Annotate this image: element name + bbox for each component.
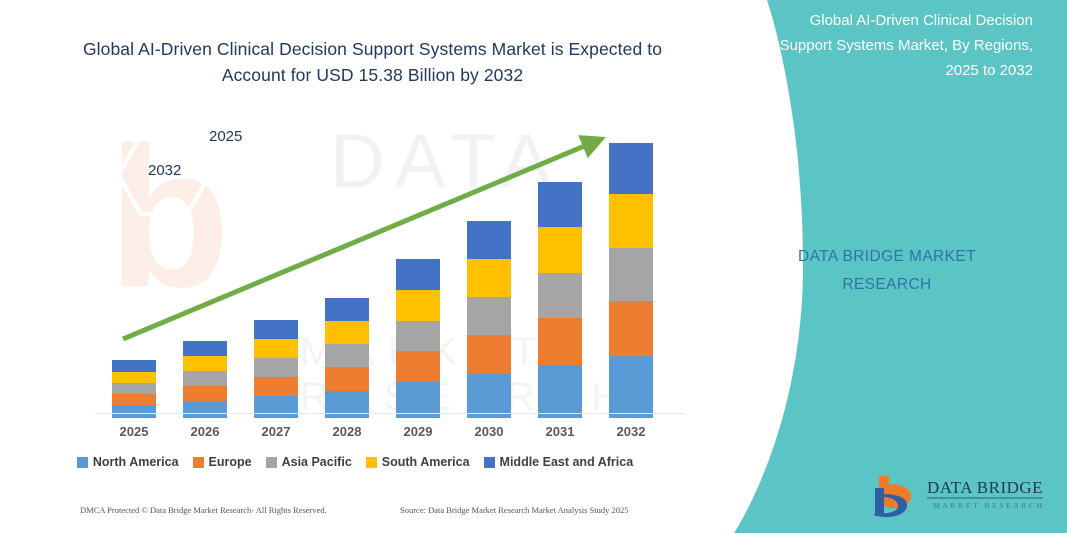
bar-segment[interactable]: [467, 259, 511, 297]
legend-item[interactable]: Middle East and Africa: [484, 455, 634, 469]
legend-item[interactable]: Europe: [193, 455, 252, 469]
bar-segment[interactable]: [538, 273, 582, 318]
x-axis-label: 2030: [454, 420, 524, 444]
bar-segment[interactable]: [609, 194, 653, 248]
hexagon-2025-label: 2025: [209, 128, 242, 145]
bar-segment[interactable]: [467, 374, 511, 418]
bar-2029[interactable]: [396, 5, 440, 418]
bar-segment[interactable]: [254, 377, 298, 396]
x-axis-label: 2028: [312, 420, 382, 444]
legend-label: North America: [93, 455, 179, 469]
data-bridge-logo: DATA BRIDGE MARKET RESEARCH: [865, 472, 1055, 520]
legend-label: Asia Pacific: [282, 455, 352, 469]
x-axis-label: 2027: [241, 420, 311, 444]
legend-label: Europe: [209, 455, 252, 469]
bar-segment[interactable]: [325, 367, 369, 391]
bar-segment[interactable]: [396, 321, 440, 351]
logo-mark-icon: DATA BRIDGE MARKET RESEARCH: [865, 472, 1055, 520]
legend-item[interactable]: North America: [77, 455, 179, 469]
x-axis-label: 2029: [383, 420, 453, 444]
infographic-root: b DATA MARKET RESEARCH Global AI-Driven …: [0, 0, 1067, 533]
legend-label: South America: [382, 455, 470, 469]
bar-segment[interactable]: [609, 356, 653, 418]
legend-swatch: [484, 457, 495, 468]
bar-2025[interactable]: [112, 5, 156, 418]
bar-segment[interactable]: [183, 341, 227, 356]
bar-segment[interactable]: [183, 356, 227, 371]
bar-2026[interactable]: [183, 5, 227, 418]
bar-chart: 20252026202720282029203020312032: [0, 0, 710, 470]
legend-item[interactable]: South America: [366, 455, 470, 469]
x-axis-labels: 20252026202720282029203020312032: [0, 420, 710, 444]
x-axis-label: 2025: [99, 420, 169, 444]
panel-brand-line2: RESEARCH: [707, 271, 1067, 299]
bar-segment[interactable]: [538, 365, 582, 418]
bar-segment[interactable]: [183, 386, 227, 401]
x-axis-label: 2032: [596, 420, 666, 444]
bar-segment[interactable]: [254, 320, 298, 339]
bar-segment[interactable]: [538, 227, 582, 273]
bar-segment[interactable]: [112, 405, 156, 418]
bar-segment[interactable]: [467, 297, 511, 335]
legend-swatch: [193, 457, 204, 468]
bar-segment[interactable]: [467, 335, 511, 374]
legend-item[interactable]: Asia Pacific: [266, 455, 352, 469]
bar-segment[interactable]: [254, 396, 298, 418]
bar-segment[interactable]: [467, 221, 511, 259]
bar-2027[interactable]: [254, 5, 298, 418]
bar-segment[interactable]: [609, 248, 653, 301]
chart-legend: North AmericaEuropeAsia PacificSouth Ame…: [0, 455, 710, 469]
legend-swatch: [366, 457, 377, 468]
footer-copyright: DMCA Protected © Data Bridge Market Rese…: [80, 505, 327, 515]
bar-segment[interactable]: [183, 401, 227, 418]
bar-segment[interactable]: [183, 371, 227, 386]
legend-swatch: [266, 457, 277, 468]
bar-segment[interactable]: [396, 290, 440, 321]
bar-segment[interactable]: [325, 321, 369, 344]
x-axis-label: 2031: [525, 420, 595, 444]
bar-segment[interactable]: [396, 259, 440, 290]
bar-segment[interactable]: [325, 344, 369, 367]
bar-segment[interactable]: [609, 301, 653, 356]
bar-2030[interactable]: [467, 5, 511, 418]
plot-area: [0, 0, 710, 418]
logo-title-text: DATA BRIDGE: [927, 478, 1043, 497]
bar-segment[interactable]: [254, 339, 298, 358]
bar-segment[interactable]: [538, 182, 582, 227]
panel-title: Global AI-Driven Clinical Decision Suppo…: [753, 8, 1033, 83]
bar-segment[interactable]: [112, 372, 156, 383]
bar-segment[interactable]: [609, 143, 653, 194]
bar-2031[interactable]: [538, 5, 582, 418]
hexagon-2032-label: 2032: [148, 162, 181, 179]
bar-2028[interactable]: [325, 5, 369, 418]
footer: DMCA Protected © Data Bridge Market Rese…: [0, 505, 710, 525]
bar-segment[interactable]: [325, 298, 369, 321]
panel-brand-line1: DATA BRIDGE MARKET: [707, 243, 1067, 271]
legend-swatch: [77, 457, 88, 468]
bar-segment[interactable]: [112, 394, 156, 405]
panel-brand-name: DATA BRIDGE MARKET RESEARCH: [707, 243, 1067, 299]
x-axis-label: 2026: [170, 420, 240, 444]
bar-segment[interactable]: [254, 358, 298, 377]
legend-label: Middle East and Africa: [500, 455, 634, 469]
bar-segment[interactable]: [538, 318, 582, 365]
bar-segment[interactable]: [112, 383, 156, 394]
x-axis-line: [95, 413, 685, 414]
bar-2032[interactable]: [609, 5, 653, 418]
bar-segment[interactable]: [112, 360, 156, 372]
footer-source: Source: Data Bridge Market Research Mark…: [400, 505, 629, 515]
bar-segment[interactable]: [396, 351, 440, 382]
logo-subtitle-text: MARKET RESEARCH: [933, 501, 1045, 510]
